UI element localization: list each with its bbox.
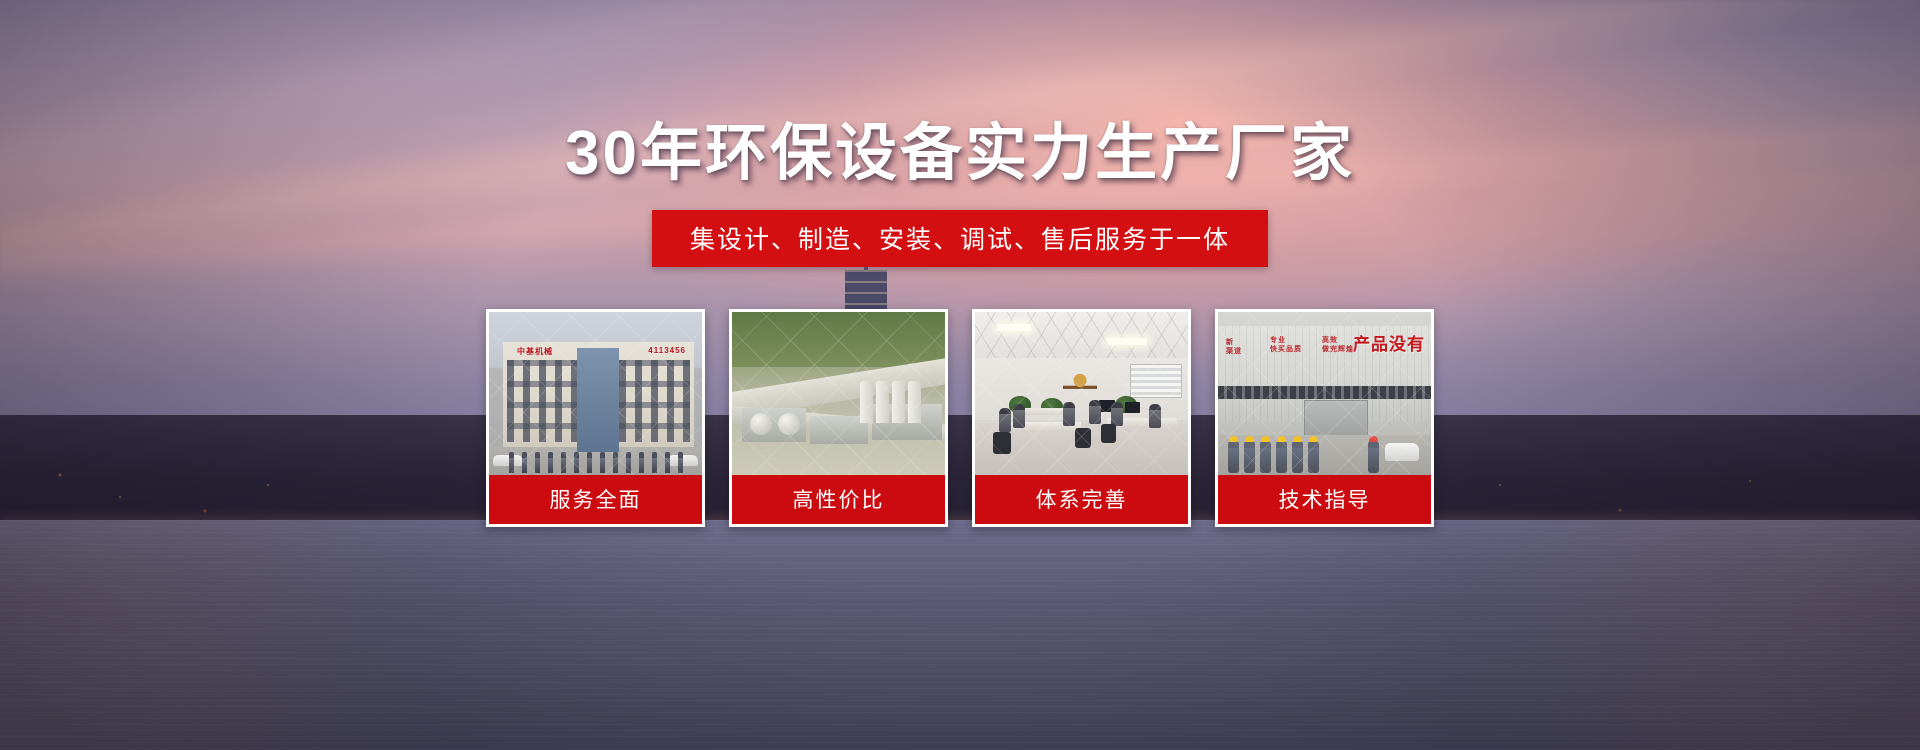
photo-monitor xyxy=(1125,402,1140,413)
photo-worker xyxy=(1276,441,1287,473)
photo-silo xyxy=(876,381,889,423)
feature-card[interactable]: 中基机械 4113456 服务全面 xyxy=(486,309,705,527)
photo-treeline xyxy=(732,312,945,367)
photo-chair xyxy=(1075,428,1091,448)
photo-chair xyxy=(993,432,1011,454)
feature-card[interactable]: 产品没有 新渠道 专业快买品质 高效做完辉煌 技术指导 xyxy=(1215,309,1434,527)
feature-card-caption: 体系完善 xyxy=(975,475,1188,524)
banner-content: 30年环保设备实力生产厂家 集设计、制造、安装、调试、售后服务于一体 中基机械 … xyxy=(0,0,1920,750)
photo-chair xyxy=(1101,424,1116,443)
photo-worker xyxy=(1292,441,1303,473)
banner-headline: 30年环保设备实力生产厂家 xyxy=(565,102,1355,192)
photo-ceiling-light xyxy=(997,324,1031,331)
photo-worker xyxy=(1260,441,1271,473)
photo-silo xyxy=(908,381,921,423)
photo-clerestory-windows xyxy=(1218,386,1431,399)
company-office-building-photo: 中基机械 4113456 xyxy=(489,312,702,475)
photo-worker xyxy=(1244,441,1255,473)
photo-employee xyxy=(1111,402,1123,426)
office-interior-staff-photo xyxy=(975,312,1188,475)
photo-window-blinds xyxy=(1130,364,1182,398)
feature-card-caption: 服务全面 xyxy=(489,475,702,524)
feature-card[interactable]: 高性价比 xyxy=(729,309,948,527)
hero-banner: 30年环保设备实力生产厂家 集设计、制造、安装、调试、售后服务于一体 中基机械 … xyxy=(0,0,1920,750)
photo-ceiling-light xyxy=(1107,338,1147,345)
photo-wall-slogan-mid: 专业快买品质 xyxy=(1270,336,1302,354)
photo-employee xyxy=(1149,404,1161,428)
photo-silo xyxy=(860,381,873,423)
banner-subtitle-bar: 集设计、制造、安装、调试、售后服务于一体 xyxy=(652,210,1268,267)
photo-workshop-sign: 产品没有 xyxy=(1353,330,1425,355)
photo-employee xyxy=(1089,400,1101,424)
photo-wall-slogan-left: 新渠道 xyxy=(1226,338,1242,356)
feature-card-caption: 技术指导 xyxy=(1218,475,1431,524)
photo-employee xyxy=(1013,404,1025,428)
photo-employee xyxy=(1063,402,1075,426)
feature-card-caption: 高性价比 xyxy=(732,475,945,524)
feature-card[interactable]: 体系完善 xyxy=(972,309,1191,527)
photo-tank xyxy=(778,413,800,435)
photo-wall-slogan-right: 高效做完辉煌 xyxy=(1322,336,1354,354)
photo-building-atrium xyxy=(577,348,619,452)
photo-company-sign: 中基机械 xyxy=(517,346,553,357)
photo-phone-number: 4113456 xyxy=(648,346,686,355)
photo-van xyxy=(1385,443,1419,461)
photo-worker xyxy=(1228,441,1239,473)
feature-card-list: 中基机械 4113456 服务全面 xyxy=(486,309,1434,527)
photo-worker xyxy=(1308,441,1319,473)
photo-tank xyxy=(750,413,772,435)
photo-staff-row xyxy=(507,449,691,473)
photo-ceiling xyxy=(975,312,1188,358)
photo-silo xyxy=(892,381,905,423)
photo-wall-emblem xyxy=(1063,370,1097,396)
factory-workshop-exterior-photo: 产品没有 新渠道 专业快买品质 高效做完辉煌 xyxy=(1218,312,1431,475)
aerial-production-plant-photo xyxy=(732,312,945,475)
photo-employee xyxy=(999,408,1011,432)
photo-supervisor xyxy=(1368,441,1379,473)
